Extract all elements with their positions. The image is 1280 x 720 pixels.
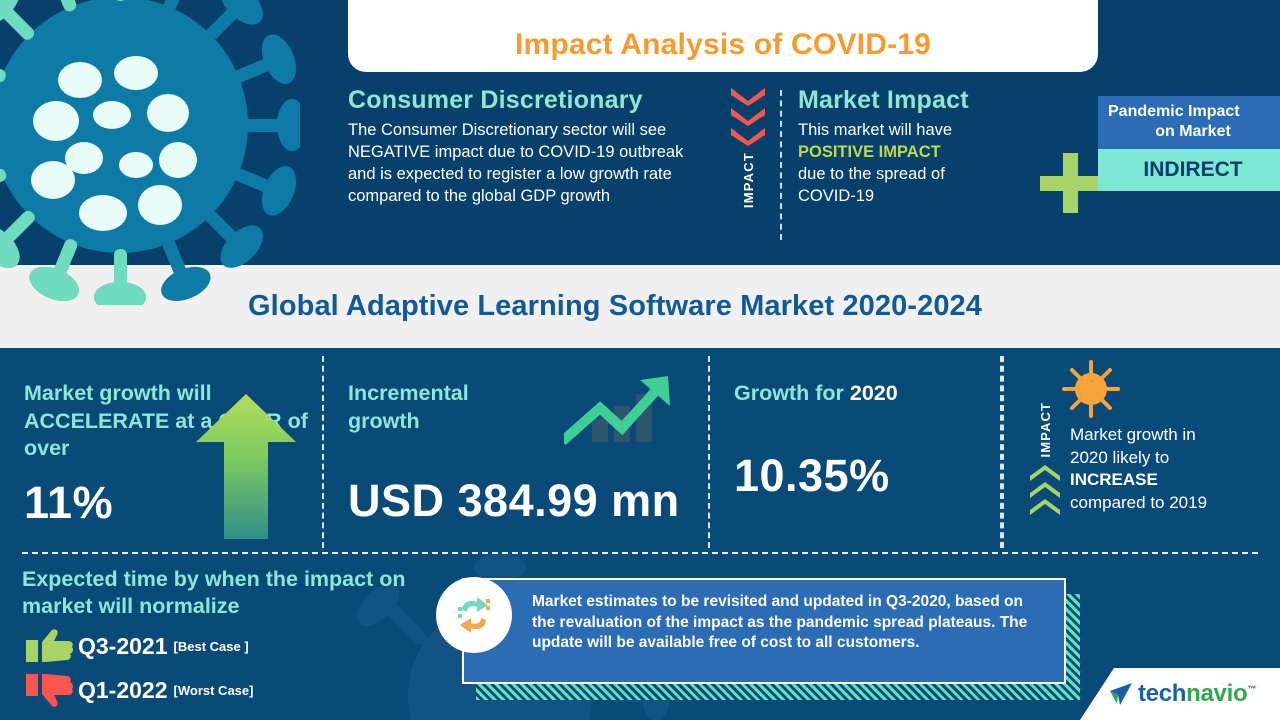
pandemic-impact-badge: Pandemic Impact on Market INDIRECT (1098, 96, 1280, 191)
impact-2020-block: IMPACT Market growth in 2020 likely to I… (1002, 352, 1280, 550)
chevron-down-icon (731, 88, 765, 106)
up-chevron-stack (1030, 465, 1060, 515)
chevron-up-icon (1030, 482, 1060, 498)
impact-rail-down: IMPACT (720, 86, 776, 258)
metric-growth-label-year: 2020 (850, 381, 898, 405)
sector-description: The Consumer Discretionary sector will s… (348, 120, 712, 208)
impact-rail-up: IMPACT (1028, 402, 1062, 515)
logo-part-tech: tech (1138, 680, 1186, 707)
logo-part-navio: navio (1186, 680, 1247, 707)
metric-growth-2020: Growth for 2020 10.35% (710, 352, 1002, 550)
normalize-heading: Expected time by when the impact on mark… (22, 566, 422, 620)
vertical-divider (1002, 356, 1004, 548)
impact-2020-label: IMPACT (1038, 402, 1053, 457)
impact-2020-line1: Market growth in (1070, 425, 1196, 444)
vertical-divider (780, 90, 782, 240)
impact-2020-text: Market growth in 2020 likely to INCREASE… (1070, 424, 1270, 514)
impact-2020-highlight: INCREASE (1070, 470, 1158, 489)
chevron-up-icon (1030, 465, 1060, 481)
coronavirus-icon (1062, 360, 1120, 418)
callout-text: Market estimates to be revisited and upd… (532, 593, 1027, 651)
best-case-row: Q3-2021 [Best Case ] (22, 628, 422, 664)
report-title: Global Adaptive Learning Software Market… (248, 290, 982, 323)
consumer-discretionary-block: Consumer Discretionary The Consumer Disc… (348, 86, 720, 258)
thumbs-up-icon (22, 628, 78, 664)
market-impact-block: Market Impact This market will have POSI… (798, 86, 1046, 258)
chevron-up-icon (1030, 499, 1060, 515)
market-impact-highlight: POSITIVE IMPACT (798, 143, 941, 161)
metric-incremental-label-l2: growth (348, 409, 420, 433)
horizontal-divider (22, 552, 1258, 554)
trend-up-icon (564, 372, 676, 446)
impact-2020-line2: 2020 likely to (1070, 448, 1169, 467)
chevron-down-icon (731, 128, 765, 146)
pandemic-badge-value: INDIRECT (1098, 149, 1280, 191)
infographic-canvas: Impact Analysis of COVID-19 Consumer Dis… (0, 0, 1280, 720)
pandemic-badge-title-line2: on Market (1108, 122, 1278, 142)
metric-cagr: Market growth will ACCELERATE at a CAGR … (0, 352, 324, 550)
coronavirus-illustration (0, 0, 300, 305)
arrow-up-icon (196, 394, 296, 539)
pandemic-badge-title-line1: Pandemic Impact (1108, 103, 1240, 120)
market-impact-line2: due to the spread of (798, 165, 945, 183)
chevron-down-icon (731, 108, 765, 126)
metrics-row: Market growth will ACCELERATE at a CAGR … (0, 352, 1280, 550)
callout-box: Market estimates to be revisited and upd… (462, 578, 1066, 684)
recycle-icon (450, 591, 498, 639)
metric-incremental-value: USD 384.99 mn (348, 475, 710, 527)
market-impact-heading: Market Impact (798, 86, 1046, 115)
worst-case-row: Q1-2022 [Worst Case] (22, 672, 422, 708)
normalize-block: Expected time by when the impact on mark… (22, 566, 422, 708)
metric-growth-label-text: Growth for (734, 381, 850, 405)
metric-incremental-label-l1: Incremental (348, 381, 469, 405)
metric-incremental-growth: Incremental growth USD 384.99 mn (324, 352, 710, 550)
technavio-logo: technavio™ (1080, 668, 1280, 720)
technavio-arrow-icon (1104, 681, 1134, 707)
sector-heading: Consumer Discretionary (348, 86, 712, 115)
worst-case-tag: [Worst Case] (174, 683, 254, 698)
market-impact-line1: This market will have (798, 121, 952, 139)
impact-label: IMPACT (741, 152, 756, 208)
metric-growth-value: 10.35% (734, 450, 1002, 502)
plus-icon (1040, 153, 1100, 213)
technavio-wordmark: technavio™ (1138, 680, 1256, 708)
impact-2020-line3: compared to 2019 (1070, 493, 1207, 512)
trademark-symbol: ™ (1247, 684, 1256, 694)
recycle-badge (436, 577, 512, 653)
thumbs-down-icon (22, 672, 78, 708)
down-chevron-stack (731, 88, 765, 146)
best-case-quarter: Q3-2021 (78, 633, 168, 660)
impact-analysis-title-card: Impact Analysis of COVID-19 (348, 0, 1098, 72)
page-title: Impact Analysis of COVID-19 (515, 28, 931, 62)
best-case-tag: [Best Case ] (174, 639, 249, 654)
worst-case-quarter: Q1-2022 (78, 677, 168, 704)
market-impact-body: This market will have POSITIVE IMPACT du… (798, 120, 1046, 208)
pandemic-badge-header: Pandemic Impact on Market (1098, 96, 1280, 149)
market-impact-line3: COVID-19 (798, 187, 874, 205)
metric-growth-label: Growth for 2020 (734, 380, 1002, 408)
